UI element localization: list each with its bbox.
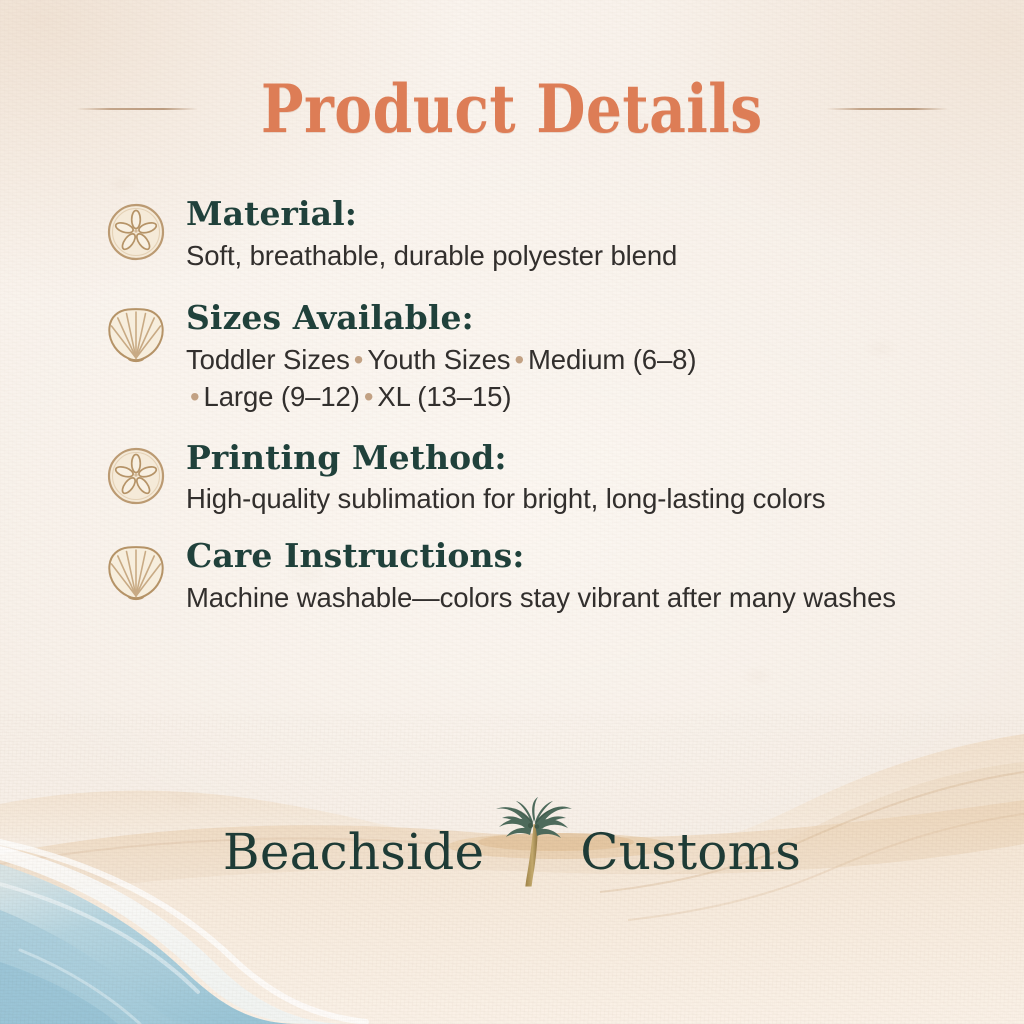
sand-dollar-icon bbox=[104, 444, 168, 508]
product-details-poster: Product Details bbox=[0, 0, 1024, 1024]
detail-item-care-instructions: Care Instructions: Machine washable—colo… bbox=[104, 538, 1020, 616]
brand-word-left: Beachside bbox=[223, 827, 484, 877]
size-option: Youth Sizes bbox=[367, 344, 510, 375]
size-separator: • bbox=[186, 381, 204, 412]
detail-text-line-2: •Large (9–12)•XL (13–15) bbox=[186, 379, 1020, 416]
detail-text: High-quality sublimation for bright, lon… bbox=[186, 481, 1020, 518]
brand-logo: Beachside bbox=[0, 800, 1024, 904]
size-option: Toddler Sizes bbox=[186, 344, 350, 375]
detail-heading: Printing Method: bbox=[186, 440, 1020, 476]
detail-text: Soft, breathable, durable polyester blen… bbox=[186, 238, 1020, 275]
detail-item-material: Material: Soft, breathable, durable poly… bbox=[104, 196, 1020, 274]
sand-dollar-icon bbox=[104, 200, 168, 264]
palm-tree-icon bbox=[486, 796, 578, 900]
brand-word-right: Customs bbox=[580, 827, 801, 877]
title-row: Product Details bbox=[0, 76, 1024, 142]
detail-heading: Sizes Available: bbox=[186, 300, 1020, 336]
size-separator: • bbox=[360, 381, 378, 412]
size-option: XL (13–15) bbox=[377, 381, 511, 412]
scallop-shell-icon bbox=[104, 304, 168, 368]
scallop-shell-icon bbox=[104, 542, 168, 606]
detail-heading: Material: bbox=[186, 196, 1020, 232]
size-separator: • bbox=[350, 344, 368, 375]
detail-heading: Care Instructions: bbox=[186, 538, 1020, 574]
page-title: Product Details bbox=[261, 76, 763, 142]
detail-item-printing-method: Printing Method: High-quality sublimatio… bbox=[104, 440, 1020, 518]
detail-text-line-1: Toddler Sizes•Youth Sizes•Medium (6–8) bbox=[186, 342, 1020, 379]
product-details-list: Material: Soft, breathable, durable poly… bbox=[104, 196, 1020, 617]
size-separator: • bbox=[510, 344, 528, 375]
left-rule bbox=[76, 108, 198, 110]
size-option: Medium (6–8) bbox=[528, 344, 696, 375]
detail-item-sizes: Sizes Available: Toddler Sizes•Youth Siz… bbox=[104, 300, 1020, 415]
right-rule bbox=[826, 108, 948, 110]
size-option: Large (9–12) bbox=[204, 381, 360, 412]
detail-text: Machine washable—colors stay vibrant aft… bbox=[186, 580, 1020, 617]
